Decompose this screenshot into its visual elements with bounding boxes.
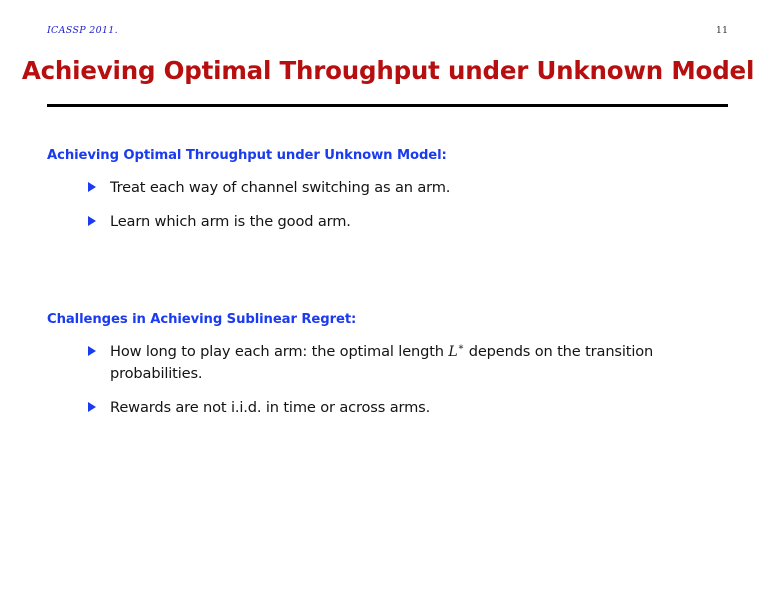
bullet-text: Rewards are not i.i.d. in time or across… [110,399,430,416]
bullet-text: How long to play each arm: the optimal l… [110,341,710,385]
bullet-text: Treat each way of channel switching as a… [110,179,450,196]
slide-canvas: ICASSP 2011. 11 Achieving Optimal Throug… [0,0,776,600]
triangle-bullet-icon [88,346,96,356]
slide-header: ICASSP 2011. 11 [47,25,728,41]
page-number: 11 [716,25,728,36]
bullet-list: Treat each way of channel switching as a… [47,177,728,233]
list-item: How long to play each arm: the optimal l… [47,341,728,385]
bullet-text: Learn which arm is the good arm. [110,213,351,230]
list-item: Learn which arm is the good arm. [47,211,728,233]
title-divider [47,104,728,107]
section-heading: Achieving Optimal Throughput under Unkno… [47,148,728,163]
math-variable-L: L [448,344,457,360]
section-heading: Challenges in Achieving Sublinear Regret… [47,312,728,327]
section-challenges-sublinear-regret: Challenges in Achieving Sublinear Regret… [47,312,728,419]
page-title: Achieving Optimal Throughput under Unkno… [0,56,776,85]
section-achieving-optimal-throughput: Achieving Optimal Throughput under Unkno… [47,148,728,233]
list-item: Rewards are not i.i.d. in time or across… [47,397,728,419]
conference-label: ICASSP 2011. [47,25,118,36]
bullet-text-before: How long to play each arm: the optimal l… [110,343,448,360]
list-item: Treat each way of channel switching as a… [47,177,728,199]
triangle-bullet-icon [88,402,96,412]
bullet-list: How long to play each arm: the optimal l… [47,341,728,419]
triangle-bullet-icon [88,182,96,192]
triangle-bullet-icon [88,216,96,226]
